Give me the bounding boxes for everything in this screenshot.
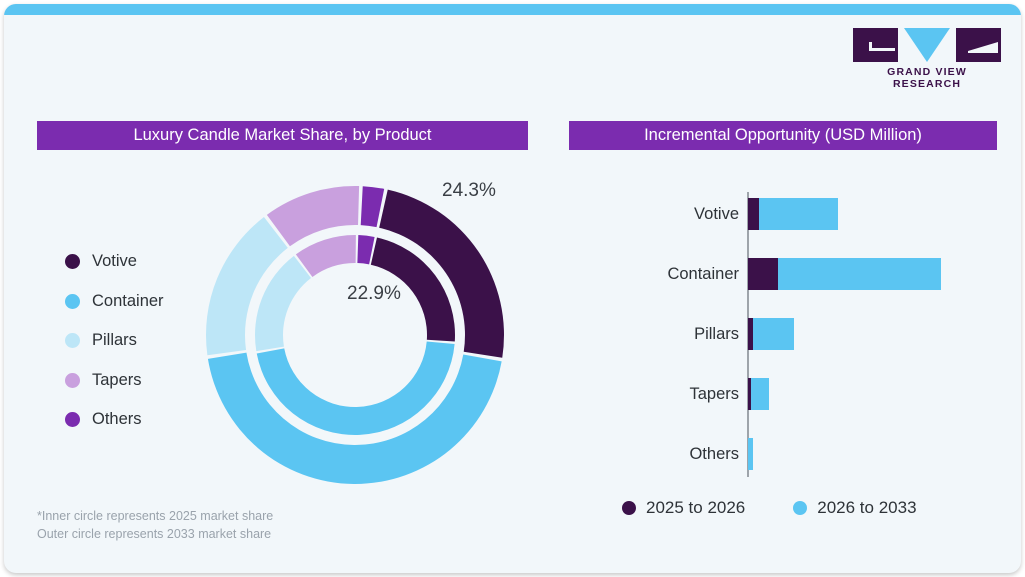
bar-segment-2026-2033: [748, 438, 753, 470]
legend-swatch-icon: [793, 501, 807, 515]
bar-category-label: Container: [569, 244, 739, 304]
period-legend-item-1[interactable]: 2025 to 2026: [622, 498, 745, 518]
legend-label: Others: [92, 410, 142, 429]
legend-item-tapers[interactable]: Tapers: [65, 361, 215, 401]
legend-swatch-icon: [65, 333, 80, 348]
donut-outer-votive-label: 24.3%: [442, 180, 496, 202]
product-legend: VotiveContainerPillarsTapersOthers: [65, 242, 215, 440]
legend-label: Votive: [92, 252, 137, 271]
bar-category-label: Pillars: [569, 304, 739, 364]
bar-category-label: Tapers: [569, 364, 739, 424]
donut-inner-ring-2025: [255, 235, 455, 435]
legend-swatch-icon: [65, 294, 80, 309]
bar-row-container[interactable]: Container: [569, 244, 997, 304]
market-share-donut-chart: [200, 180, 510, 490]
stacked-bar: [748, 198, 838, 230]
legend-item-others[interactable]: Others: [65, 400, 215, 440]
stacked-bar: [748, 318, 794, 350]
logo-letter-v: [904, 28, 950, 62]
infographic-card: GRAND VIEW RESEARCH Luxury Candle Market…: [4, 4, 1021, 573]
legend-label: Pillars: [92, 331, 137, 350]
legend-swatch-icon: [65, 373, 80, 388]
bar-row-others[interactable]: Others: [569, 424, 997, 484]
right-panel-title: Incremental Opportunity (USD Million): [569, 121, 997, 150]
incremental-opportunity-bar-chart: VotiveContainerPillarsTapersOthers: [569, 184, 997, 484]
stacked-bar: [748, 258, 941, 290]
grand-view-research-logo: GRAND VIEW RESEARCH: [853, 28, 1001, 80]
bar-segment-2026-2033: [751, 378, 769, 410]
bar-category-label: Votive: [569, 184, 739, 244]
donut-footnote: *Inner circle represents 2025 market sha…: [37, 507, 273, 543]
period-legend-item-2[interactable]: 2026 to 2033: [793, 498, 916, 518]
bar-segment-2026-2033: [759, 198, 838, 230]
donut-outer-ring-2033: [206, 186, 504, 484]
period-legend-label: 2025 to 2026: [646, 498, 745, 518]
footnote-line-1: *Inner circle represents 2025 market sha…: [37, 507, 273, 525]
logo-letter-r: [956, 28, 1001, 62]
stacked-bar: [748, 378, 769, 410]
donut-inner-votive-label: 22.9%: [347, 283, 401, 305]
bar-row-pillars[interactable]: Pillars: [569, 304, 997, 364]
period-legend-label: 2026 to 2033: [817, 498, 916, 518]
legend-swatch-icon: [65, 412, 80, 427]
logo-letter-g: [853, 28, 898, 62]
donut-outer-slice-others: [361, 186, 384, 227]
stacked-bar: [748, 438, 753, 470]
legend-label: Tapers: [92, 371, 142, 390]
logo-mark: [853, 28, 1001, 62]
bar-segment-2025-2026: [748, 198, 759, 230]
bar-category-label: Others: [569, 424, 739, 484]
bar-segment-2026-2033: [753, 318, 794, 350]
legend-item-pillars[interactable]: Pillars: [65, 321, 215, 361]
legend-swatch-icon: [65, 254, 80, 269]
legend-swatch-icon: [622, 501, 636, 515]
legend-item-votive[interactable]: Votive: [65, 242, 215, 282]
legend-label: Container: [92, 292, 164, 311]
logo-wordmark: GRAND VIEW RESEARCH: [853, 66, 1001, 90]
left-panel-title: Luxury Candle Market Share, by Product: [37, 121, 528, 150]
bar-row-votive[interactable]: Votive: [569, 184, 997, 244]
footnote-line-2: Outer circle represents 2033 market shar…: [37, 525, 273, 543]
period-legend: 2025 to 20262026 to 2033: [622, 498, 917, 518]
top-accent-bar: [4, 4, 1021, 15]
legend-item-container[interactable]: Container: [65, 282, 215, 322]
bar-segment-2025-2026: [748, 258, 778, 290]
bar-row-tapers[interactable]: Tapers: [569, 364, 997, 424]
bar-segment-2026-2033: [778, 258, 941, 290]
